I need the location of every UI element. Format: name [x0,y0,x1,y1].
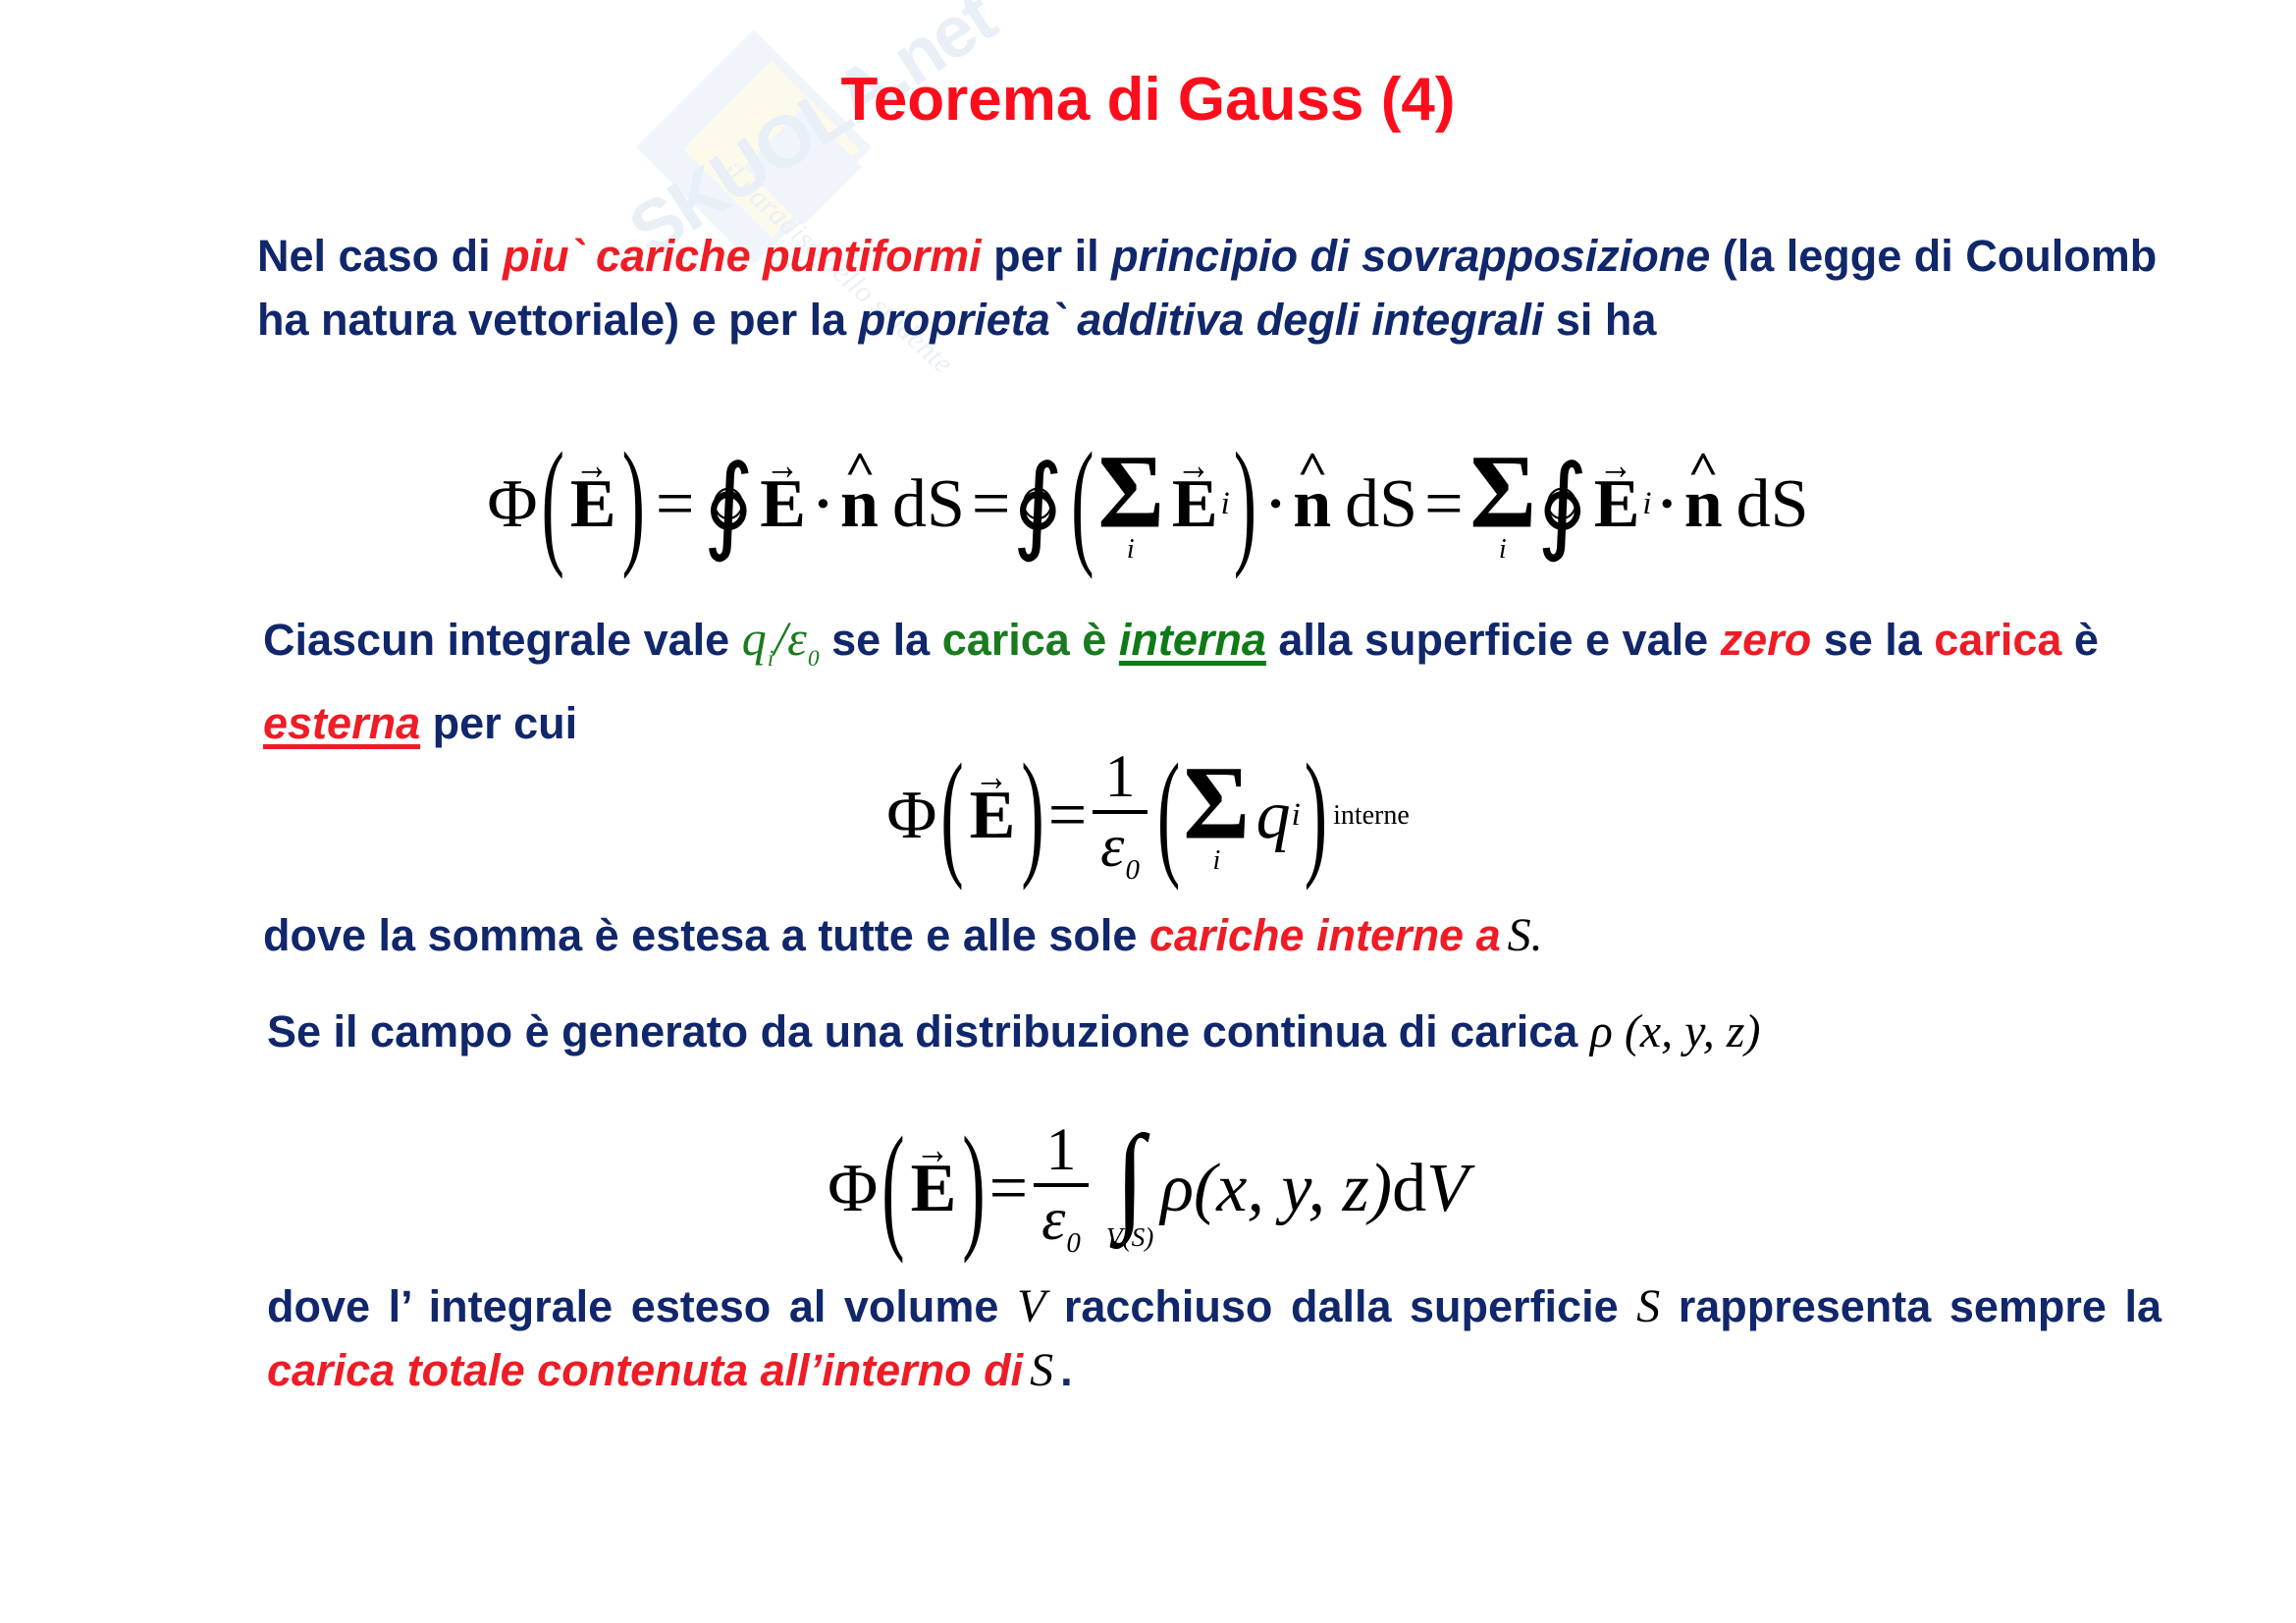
surface-S-2: S [1636,1280,1660,1332]
left-paren: ( [542,424,564,585]
p2-emph-interna: interna [1119,615,1266,665]
formula-flux-superposition: Φ(E) = ∮ E · n dS = ∮ ( Σ i Ei ) · n dS … [0,447,2296,562]
equals-1: = [656,465,694,544]
p3-period: . [1531,909,1543,961]
numerator-one-2: 1 [1039,1119,1085,1183]
volume-V-2: V [1017,1280,1045,1332]
p5-emph-carica-totale: carica totale contenuta all’interno di [267,1345,1023,1395]
q-symbol: q [742,611,767,666]
paragraph-intro: Nel caso di piu` cariche puntiformi per … [257,224,2211,352]
epsilon-glyph: ε [1100,813,1124,880]
p2-part5: alla superficie e vale [1266,615,1721,665]
p1-part1: Nel caso di [257,231,503,281]
right-paren-5: ) [962,1109,985,1270]
formula-gauss-discrete: Φ(E) = 1 ε0 ( Σ i qi )interne [0,746,2296,885]
rho-symbol: ρ [1160,1150,1194,1228]
volume-V: V [1426,1150,1468,1228]
closed-integral-3: ∮ [1535,444,1592,566]
subscript-i-2: i [1641,486,1651,522]
surface-S-3: S [1030,1344,1053,1396]
sigma-glyph-3: Σ [1184,756,1251,852]
right-paren-4: ) [1305,735,1327,896]
p3-emph-cariche-interne: cariche interne a [1149,910,1501,960]
label-interne: interne [1331,800,1410,832]
paragraph-dove-integrale: dove l’ integrale esteso al volume V rac… [267,1274,2162,1402]
q-subscript-i-2: i [1291,797,1301,834]
unit-normal-1: n [838,465,881,544]
formula2-expression: Φ(E) = 1 ε0 ( Σ i qi )interne [886,746,1410,885]
p2-emph-carica: carica [1934,615,2061,665]
dS-2: dS [1345,465,1417,544]
closed-integral-1: ∮ [701,444,758,566]
dS-1: dS [892,465,965,544]
vector-E-i: E [1170,465,1220,544]
vector-E-2: E [758,465,808,544]
equals-3: = [1424,465,1463,544]
charge-q: q [1256,777,1291,855]
denominator-epsilon: ε0 [1093,814,1148,886]
paragraph-se-il-campo: Se il campo è generato da una distribuzi… [267,1000,2220,1063]
phi-symbol-2: Φ [886,777,936,855]
right-paren: ) [622,424,645,585]
equals-5: = [989,1150,1028,1228]
p5-part3: racchiuso dalla superficie [1045,1281,1636,1331]
subscript-i-1: i [1220,486,1230,522]
fraction-one-over-epsilon: 1 ε0 [1093,746,1148,885]
page-title: Teorema di Gauss (4) [0,65,2296,135]
surface-S-1: S [1508,909,1531,961]
sigma-glyph: Σ [1097,445,1164,541]
p1-emph-proprieta-additiva: proprieta` additiva degli integrali [859,295,1544,345]
p5-period: . [1060,1345,1073,1395]
phi-symbol-3: Φ [828,1150,878,1228]
vector-E-3: E [968,777,1018,855]
p2-emph-zero: zero [1721,615,1812,665]
formula3-expression: Φ(E) = 1 ε0 ∫ V(S) ρ(x, y, z) dV [828,1119,1468,1258]
slash-epsilon: /ε [774,611,807,666]
summation-2: Σ i [1470,447,1535,562]
equals-2: = [972,465,1010,544]
vector-E-i-2: E [1592,465,1642,544]
phi-symbol: Φ [487,465,537,544]
p2-math-qi: qi/ε0 [742,611,820,666]
epsilon-subscript-0: 0 [807,646,820,672]
equals-4: = [1048,777,1087,855]
fraction-one-over-epsilon-2: 1 ε0 [1034,1119,1089,1258]
p2-part1: Ciascun integrale vale [263,615,742,665]
volume-integral: ∫ V(S) [1106,1127,1154,1251]
integral-glyph: ∫ [1113,1120,1147,1233]
dot-product-2: · [1260,472,1291,536]
p2-part2: se la [820,615,942,665]
summation-3: Σ i [1184,758,1249,873]
denominator-epsilon-2: ε0 [1034,1187,1089,1259]
dot-product-3: · [1652,472,1682,536]
p2-emph-esterna: esterna [263,698,420,748]
formula-gauss-continuous: Φ(E) = 1 ε0 ∫ V(S) ρ(x, y, z) dV [0,1119,2296,1258]
formula1-expression: Φ(E) = ∮ E · n dS = ∮ ( Σ i Ei ) · n dS … [487,447,1808,562]
p5-part5: rappresenta sempre la [1660,1281,2162,1331]
differential-d: d [1392,1150,1426,1228]
density-rho-xyz: ρ (x, y, z) [1590,1005,1761,1057]
p4-part1: Se il campo è generato da una distribuzi… [267,1006,1590,1056]
summation-1: Σ i [1098,447,1163,562]
left-paren-3: ( [940,735,963,896]
left-paren-2: ( [1071,424,1094,585]
closed-integral-2: ∮ [1010,444,1067,566]
paragraph-ciascun-integrale: Ciascun integrale vale qi/ε0 se la caric… [263,607,2216,755]
dS-3: dS [1736,465,1809,544]
epsilon-glyph-2: ε [1041,1186,1065,1253]
right-paren-2: ) [1234,424,1256,585]
left-paren-5: ( [881,1109,904,1270]
epsilon-zero-subscript-2: 0 [1065,1227,1080,1259]
p1-part3: per il [982,231,1112,281]
p5-part1: dove l’ integrale esteso al volume [267,1281,1017,1331]
left-paren-4: ( [1157,735,1180,896]
p2-part11: per cui [420,698,577,748]
unit-normal-2: n [1291,465,1333,544]
p1-emph-cariche-puntiformi: piu` cariche puntiformi [503,231,982,281]
epsilon-zero-subscript: 0 [1124,854,1139,886]
vector-E-4: E [909,1150,959,1228]
p2-part9: è [2061,615,2099,665]
rho-arguments: (x, y, z) [1194,1150,1392,1228]
slide-canvas: SKUOLA.net il paradiso dello studente Te… [0,0,2296,1623]
dot-product-1: · [808,472,838,536]
paragraph-dove-la-somma: dove la somma è estesa a tutte e alle so… [263,903,2216,967]
p3-part1: dove la somma è estesa a tutte e alle so… [263,910,1149,960]
p2-part7: se la [1811,615,1934,665]
vector-E: E [568,465,618,544]
right-paren-3: ) [1021,735,1043,896]
sigma-glyph-2: Σ [1469,445,1536,541]
p1-emph-principio-sovrapposizione: principio di sovrapposizione [1111,231,1710,281]
p2-carica-e: carica è [942,615,1119,665]
p1-part7: si ha [1543,295,1656,345]
unit-normal-3: n [1682,465,1725,544]
numerator-one: 1 [1097,746,1144,810]
